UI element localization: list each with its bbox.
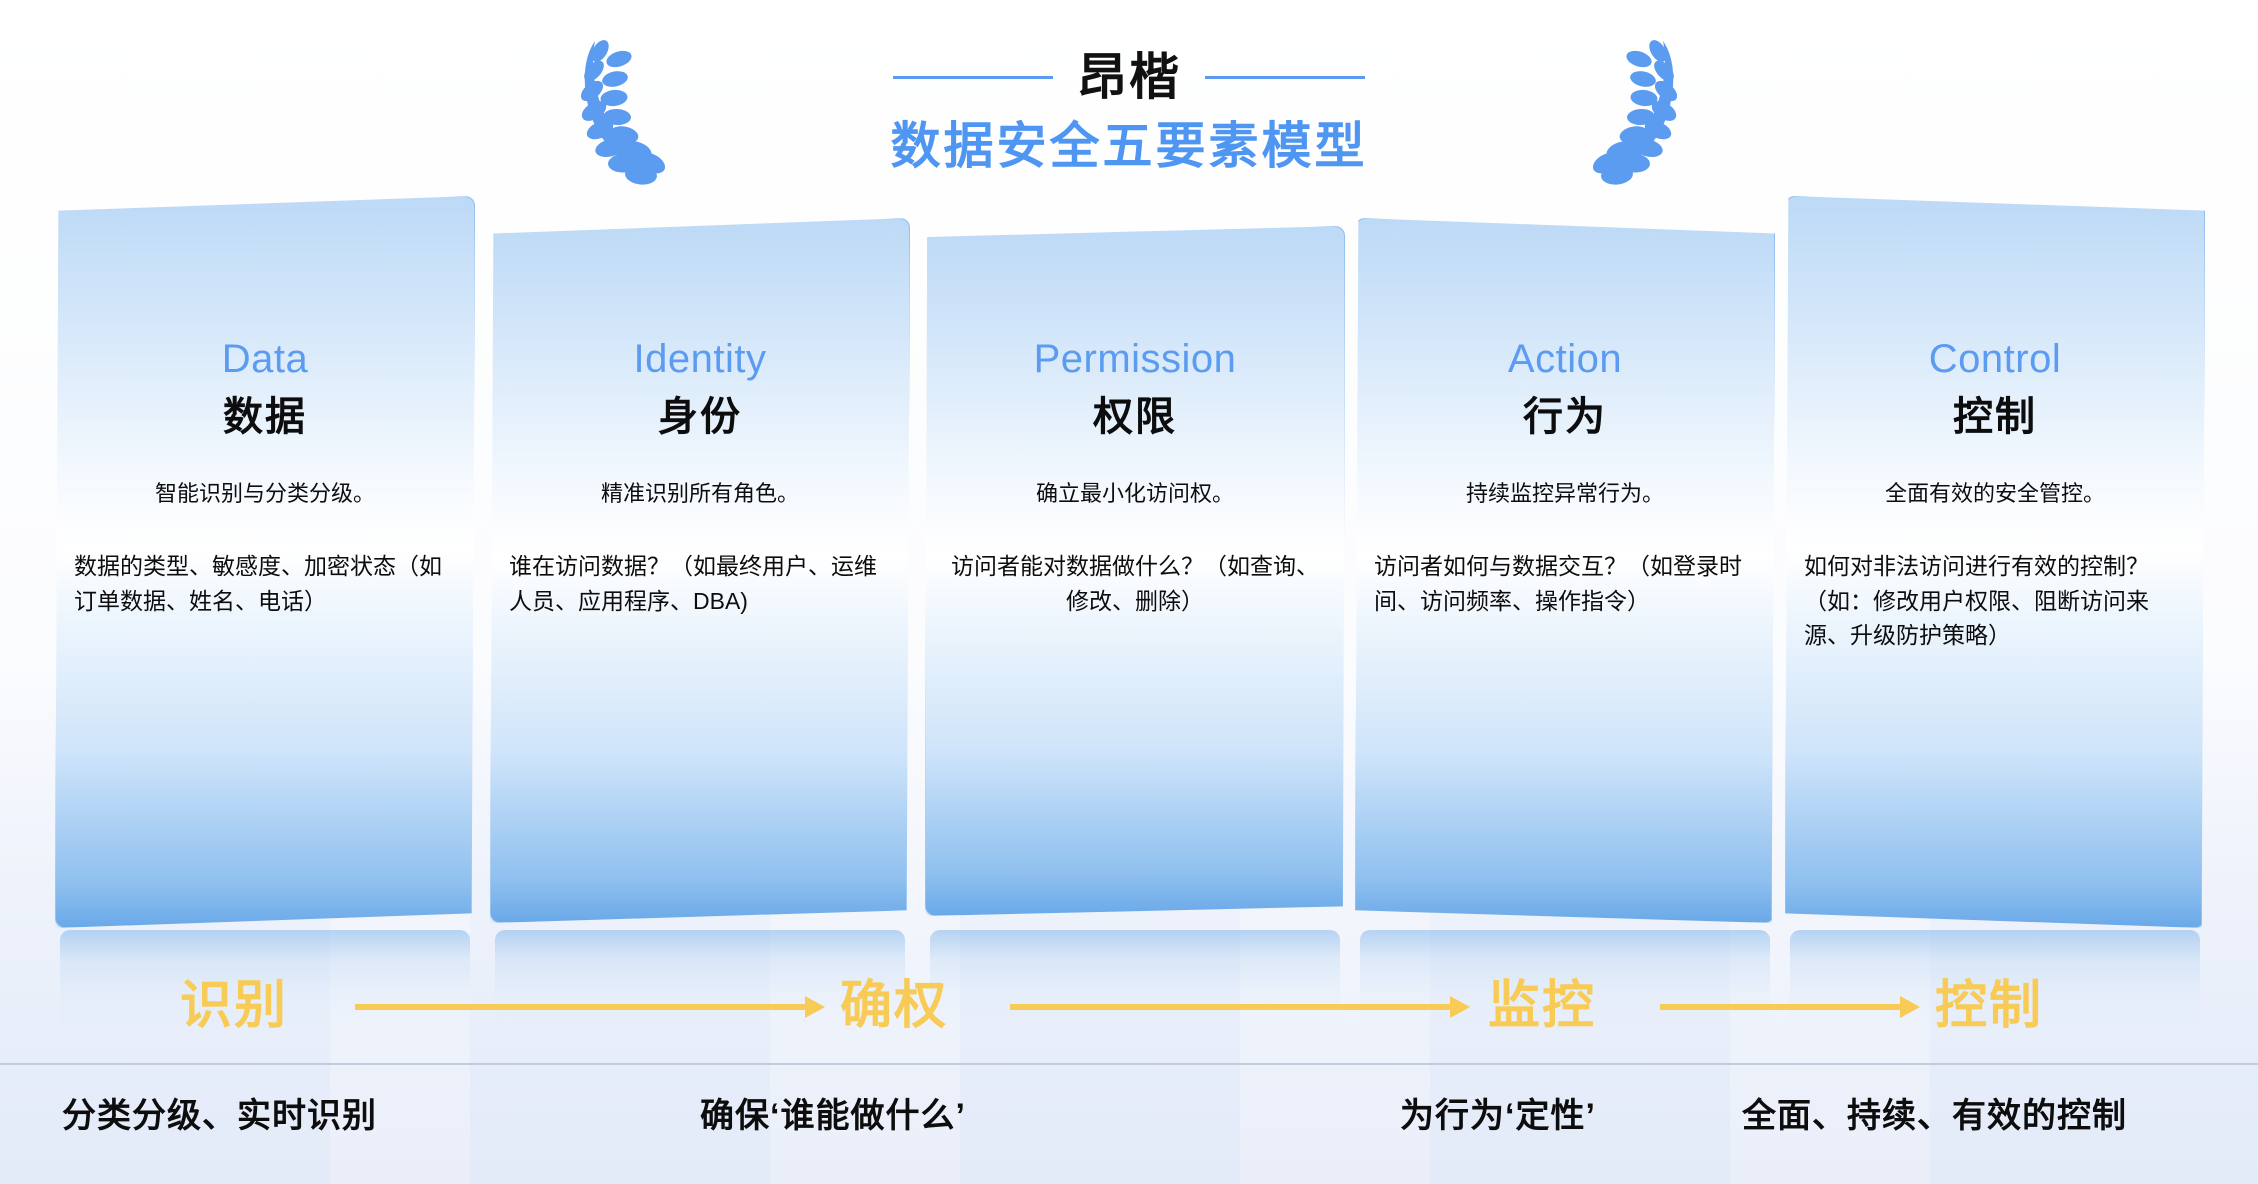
element-card-data[interactable]: Data 数据 智能识别与分类分级。 数据的类型、敏感度、加密状态（如订单数据、… (55, 196, 475, 928)
caption-identify: 分类分级、实时识别 (62, 1076, 377, 1156)
card-lead-text: 全面有效的安全管控。 (1800, 479, 2190, 509)
brand-name: 昂楷 (1077, 52, 1181, 102)
element-card-control[interactable]: Control 控制 全面有效的安全管控。 如何对非法访问进行有效的控制？（如：… (1785, 196, 2205, 928)
card-lead-text: 精准识别所有角色。 (505, 479, 895, 509)
process-flow-row: 识别 确权 监控 控制 (0, 962, 2258, 1052)
title-text-group: 昂楷 数据安全五要素模型 (679, 44, 1579, 176)
card-detail-text: 访问者能对数据做什么？（如查询、修改、删除） (940, 549, 1330, 618)
laurel-branch-icon (1579, 35, 1689, 185)
caption-authorize: 确保‘谁能做什么’ (700, 1076, 966, 1156)
title-rule-left (893, 76, 1053, 79)
card-detail-text: 访问者如何与数据交互？（如登录时间、访问频率、操作指令） (1374, 549, 1762, 618)
flow-step-authorize: 确权 (840, 962, 948, 1050)
card-detail-text: 谁在访问数据？（如最终用户、运维人员、应用程序、DBA) (509, 549, 897, 618)
card-chinese-title: 控制 (1786, 397, 2204, 437)
card-detail-text: 如何对非法访问进行有效的控制？（如：修改用户权限、阻断访问来源、升级防护策略） (1804, 549, 2192, 653)
flow-step-monitor: 监控 (1488, 962, 1596, 1050)
right-arrow-icon (355, 1004, 825, 1010)
card-detail-text: 数据的类型、敏感度、加密状态（如订单数据、姓名、电话） (74, 549, 462, 618)
title-block: 昂楷 数据安全五要素模型 (0, 30, 2258, 190)
caption-monitor: 为行为‘定性’ (1400, 1076, 1596, 1156)
card-lead-text: 确立最小化访问权。 (940, 479, 1330, 509)
card-chinese-title: 权限 (926, 397, 1344, 437)
card-chinese-title: 行为 (1356, 397, 1774, 437)
element-card-action[interactable]: Action 行为 持续监控异常行为。 访问者如何与数据交互？（如登录时间、访问… (1355, 218, 1775, 923)
element-card-permission[interactable]: Permission 权限 确立最小化访问权。 访问者能对数据做什么？（如查询、… (925, 226, 1345, 916)
card-chinese-title: 数据 (56, 397, 474, 437)
five-element-card-row: Data 数据 智能识别与分类分级。 数据的类型、敏感度、加密状态（如订单数据、… (0, 196, 2258, 936)
card-english-title: Data (56, 339, 474, 379)
card-english-title: Control (1786, 339, 2204, 379)
card-english-title: Permission (926, 339, 1344, 379)
laurel-branch-icon (569, 35, 679, 185)
card-lead-text: 持续监控异常行为。 (1370, 479, 1760, 509)
caption-row: 分类分级、实时识别 确保‘谁能做什么’ 为行为‘定性’ 全面、持续、有效的控制 (0, 1076, 2258, 1184)
flow-step-control: 控制 (1935, 962, 2043, 1050)
flow-step-identify: 识别 (180, 962, 288, 1050)
caption-control: 全面、持续、有效的控制 (1742, 1076, 2127, 1156)
right-arrow-icon (1010, 1004, 1470, 1010)
card-english-title: Action (1356, 339, 1774, 379)
page-title: 数据安全五要素模型 (891, 118, 1368, 176)
card-chinese-title: 身份 (491, 397, 909, 437)
element-card-identity[interactable]: Identity 身份 精准识别所有角色。 谁在访问数据？（如最终用户、运维人员… (490, 218, 910, 923)
bottom-divider (0, 1063, 2258, 1065)
card-english-title: Identity (491, 339, 909, 379)
brand-row: 昂楷 (679, 44, 1579, 110)
title-rule-right (1205, 76, 1365, 79)
right-arrow-icon (1660, 1004, 1920, 1010)
card-lead-text: 智能识别与分类分级。 (70, 479, 460, 509)
